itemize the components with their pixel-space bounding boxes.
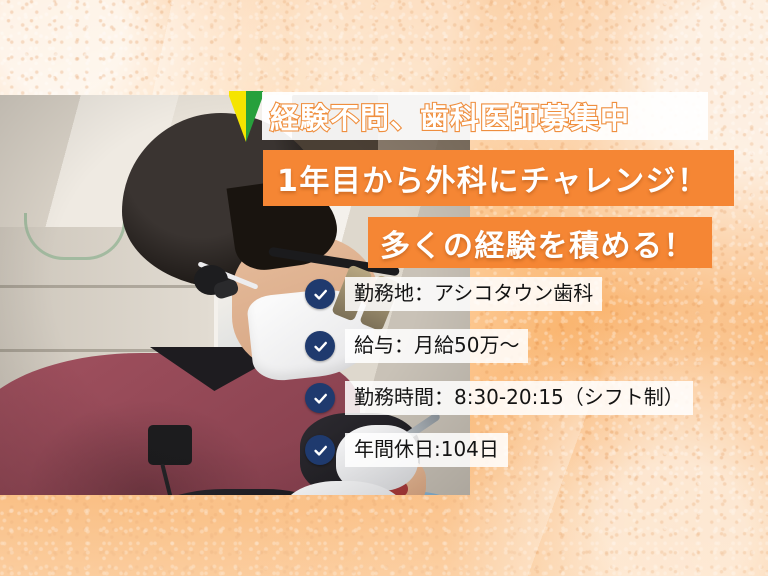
list-item-label: 年間休日:104日 [345,433,508,467]
check-circle-icon [305,435,335,465]
list-item: 年間休日:104日 [305,424,725,476]
job-detail-list: 勤務地：アシコタウン歯科 給与：月給50万〜 勤務時間：8:30-20:15（シ… [305,268,725,476]
check-circle-icon [305,279,335,309]
check-circle-icon [305,331,335,361]
recruitment-banner: 経験不問、歯科医師募集中 1年目から外科にチャレンジ！ 多くの経験を積める！ 勤… [0,0,768,576]
check-circle-icon [305,383,335,413]
headline-orange-band-1: 1年目から外科にチャレンジ！ [263,150,734,206]
headline-orange-text-1: 1年目から外科にチャレンジ！ [263,156,709,200]
list-item-label: 勤務地：アシコタウン歯科 [345,277,602,311]
list-item-label: 給与：月給50万〜 [345,329,528,363]
list-item: 勤務時間：8:30-20:15（シフト制） [305,372,725,424]
headline-white-text: 経験不問、歯科医師募集中 [262,95,630,137]
headline-white-band: 経験不問、歯科医師募集中 [262,92,708,140]
list-item-label: 勤務時間：8:30-20:15（シフト制） [345,381,693,415]
headline-orange-text-2: 多くの経験を積める！ [368,221,695,265]
headline-orange-band-2: 多くの経験を積める！ [368,217,712,268]
wakaba-beginner-mark-icon [228,90,264,142]
list-item: 勤務地：アシコタウン歯科 [305,268,725,320]
list-item: 給与：月給50万〜 [305,320,725,372]
